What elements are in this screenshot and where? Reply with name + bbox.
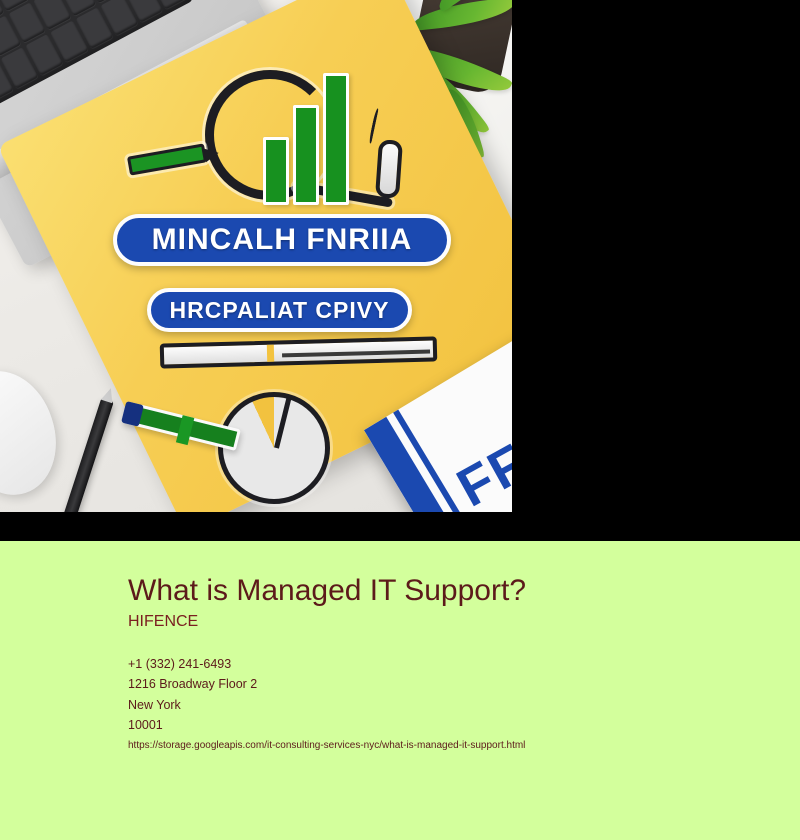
hero-photo-band: MINCALH FNRIIA HRCPALIAT CPIVY FF: [0, 0, 800, 541]
magnifier-bar-chart-group: [205, 62, 395, 227]
bar-chart-bar: [263, 137, 289, 205]
bar-chart-bar: [323, 73, 349, 205]
city: New York: [128, 695, 800, 715]
card-label: FF: [447, 431, 512, 512]
postal-code: 10001: [128, 715, 800, 735]
hero-image: MINCALH FNRIIA HRCPALIAT CPIVY FF: [0, 0, 512, 512]
page-root: MINCALH FNRIIA HRCPALIAT CPIVY FF: [0, 0, 800, 840]
highlighter-cap: [121, 401, 144, 427]
company-name: HIFENCE: [128, 613, 800, 631]
source-url[interactable]: https://storage.googleapis.com/it-consul…: [128, 740, 800, 751]
ruler-divider: [267, 345, 274, 362]
mouse-device-icon: [375, 139, 403, 199]
content-panel: What is Managed IT Support? HIFENCE +1 (…: [0, 541, 800, 840]
bar-chart-bar: [293, 105, 319, 205]
street-address: 1216 Broadway Floor 2: [128, 674, 800, 694]
ruler-line: [282, 350, 430, 358]
contact-block: +1 (332) 241-6493 1216 Broadway Floor 2 …: [128, 654, 800, 735]
pie-slice-divider: [274, 398, 291, 449]
hero-banner-primary: MINCALH FNRIIA: [113, 214, 451, 266]
hero-banner-secondary: HRCPALIAT CPIVY: [147, 288, 412, 332]
page-title: What is Managed IT Support?: [128, 574, 800, 607]
phone-number[interactable]: +1 (332) 241-6493: [128, 654, 800, 674]
